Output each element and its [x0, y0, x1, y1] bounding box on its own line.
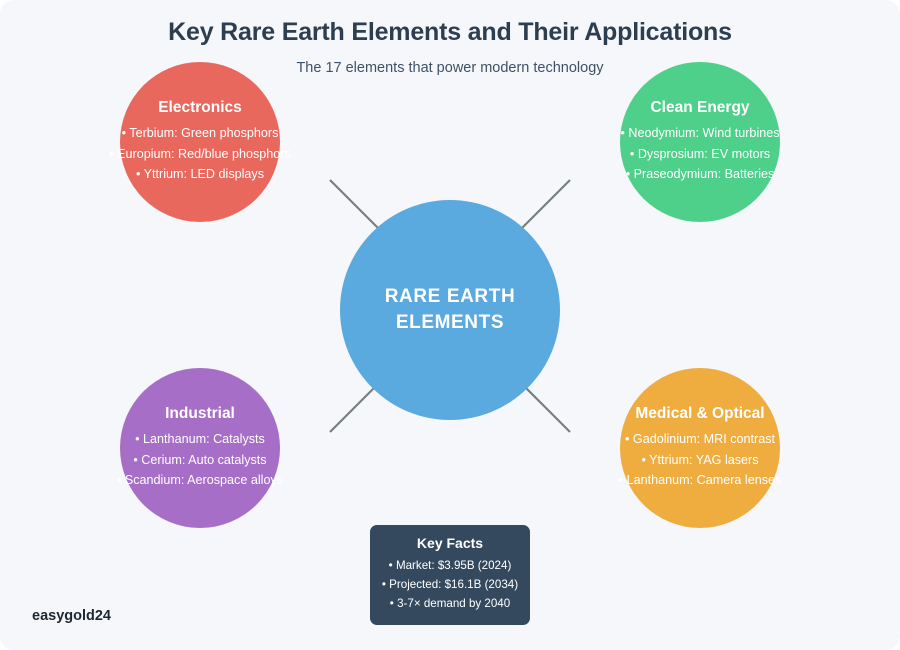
category-item: • Europium: Red/blue phosphors	[109, 144, 291, 164]
key-fact-item: • Projected: $16.1B (2034)	[378, 576, 522, 595]
category-node-clean-energy[interactable]: Clean Energy • Neodymium: Wind turbines …	[620, 62, 780, 222]
key-fact-item: • 3-7× demand by 2040	[378, 595, 522, 614]
category-item: • Yttrium: LED displays	[136, 164, 264, 184]
watermark-logo: easygold24	[32, 608, 111, 624]
category-item: • Praseodymium: Batteries	[626, 164, 775, 184]
category-node-medical-optical[interactable]: Medical & Optical • Gadolinium: MRI cont…	[620, 368, 780, 528]
category-item: • Neodymium: Wind turbines	[620, 123, 779, 143]
connector-line-top-left	[330, 180, 382, 232]
category-node-industrial[interactable]: Industrial • Lanthanum: Catalysts • Ceri…	[120, 368, 280, 528]
category-item: • Lanthanum: Catalysts	[135, 429, 265, 449]
category-item: • Lanthanum: Camera lenses	[619, 470, 782, 490]
category-title-medical-optical: Medical & Optical	[635, 405, 764, 422]
key-facts-title: Key Facts	[378, 535, 522, 551]
center-label-line-1: RARE EARTH	[385, 284, 516, 310]
category-item: • Scandium: Aerospace alloys	[117, 470, 283, 490]
category-title-industrial: Industrial	[165, 405, 235, 422]
category-item: • Yttrium: YAG lasers	[641, 450, 758, 470]
category-title-electronics: Electronics	[158, 99, 242, 116]
connector-line-top-right	[518, 180, 570, 232]
center-node-rare-earth-elements[interactable]: RARE EARTH ELEMENTS	[340, 200, 560, 420]
infographic-canvas: Key Rare Earth Elements and Their Applic…	[0, 0, 900, 650]
category-item: • Terbium: Green phosphors	[122, 123, 279, 143]
key-facts-panel: Key Facts • Market: $3.95B (2024) • Proj…	[370, 525, 530, 625]
center-label-line-2: ELEMENTS	[396, 310, 504, 336]
category-title-clean-energy: Clean Energy	[650, 99, 749, 116]
category-node-electronics[interactable]: Electronics • Terbium: Green phosphors •…	[120, 62, 280, 222]
category-item: • Dysprosium: EV motors	[630, 144, 770, 164]
category-item: • Gadolinium: MRI contrast	[625, 429, 775, 449]
key-fact-item: • Market: $3.95B (2024)	[378, 557, 522, 576]
category-item: • Cerium: Auto catalysts	[133, 450, 266, 470]
